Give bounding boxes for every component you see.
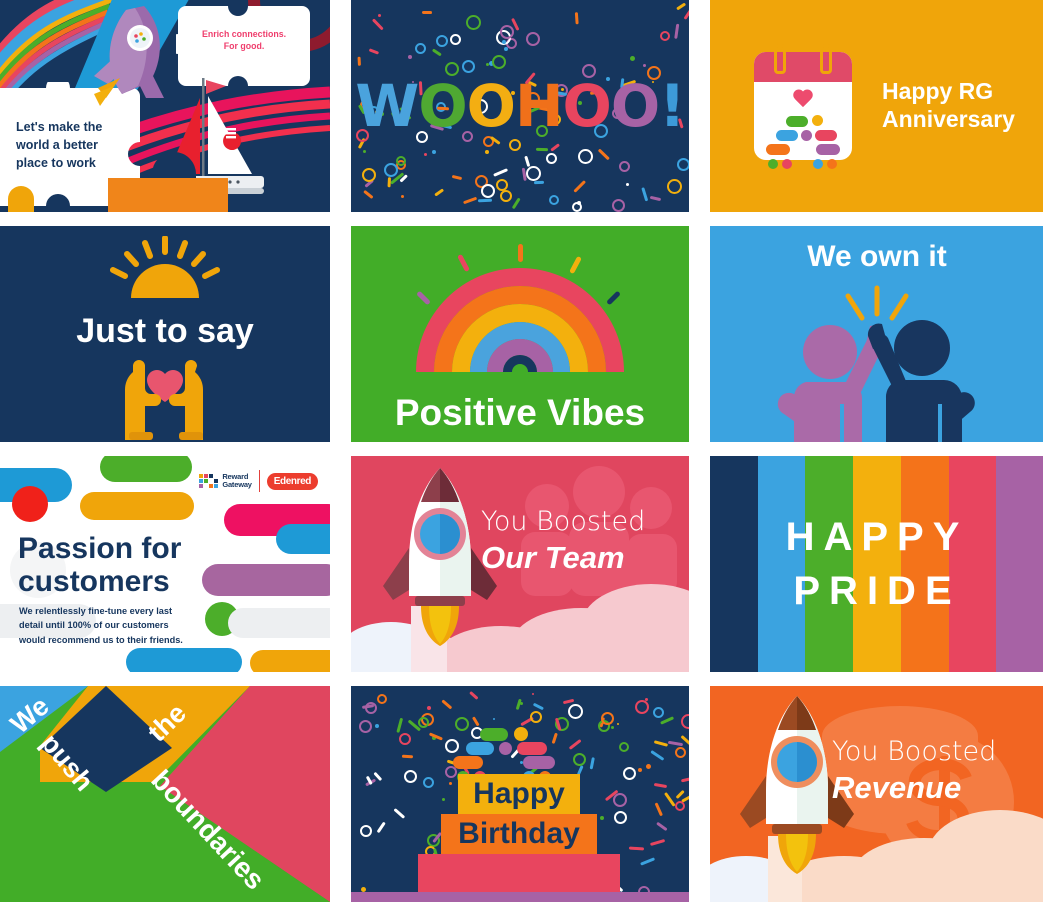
headline-line-2: For good. [196, 40, 292, 52]
shape-grey-1 [228, 608, 330, 638]
pride-line-1: HAPPY [710, 510, 1043, 564]
cake-pill-purple-2 [523, 756, 555, 769]
birthday-line-2: Birthday [441, 817, 597, 851]
card-happy-rg-anniversary[interactable]: Happy RG Anniversary [710, 0, 1043, 212]
accent-block-orange [108, 178, 228, 212]
woohoo-letter-5: O [563, 72, 611, 140]
pill-blue [776, 130, 798, 141]
hands-heart-icon [103, 354, 227, 440]
dot-green [768, 159, 778, 169]
logo-divider [259, 470, 260, 492]
boost-line-2: Our Team [481, 540, 625, 576]
card-body-passion: We relentlessly fine-tune every last det… [19, 604, 194, 647]
shape-purple-1 [202, 564, 330, 596]
accent-shape-yellow [8, 186, 34, 212]
pill-yellow [812, 115, 823, 126]
pride-line-2: PRIDE [710, 564, 1043, 618]
cake-tier-birthday: Birthday [441, 814, 597, 854]
woohoo-text: WOOHOO! [351, 72, 689, 140]
pill-pink [815, 130, 837, 141]
cake-pill-green [480, 728, 508, 741]
woohoo-letter-6: O [611, 72, 659, 140]
card-happy-pride[interactable]: HAPPY PRIDE [710, 456, 1043, 672]
cake-pill-purple [499, 742, 512, 755]
card-you-boosted-our-team[interactable]: You Boosted Our Team [351, 456, 689, 672]
woohoo-letter-1: W [355, 72, 418, 140]
card-title-happy-pride: HAPPY PRIDE [710, 510, 1043, 618]
card-happy-birthday[interactable]: Happy Birthday [351, 686, 689, 902]
shape-blue-3 [126, 648, 242, 672]
anniversary-line-2: Anniversary [882, 106, 1015, 134]
birthday-line-1: Happy [458, 777, 580, 811]
pill-purple-2 [816, 144, 840, 155]
headline-line-1: Enrich connections. [196, 28, 292, 40]
card-we-own-it[interactable]: We own it [710, 226, 1043, 442]
cake-pill-yellow [514, 727, 528, 741]
card-title-just-to-say: Just to say [0, 312, 330, 351]
card-passion-for-customers[interactable]: Reward Gateway Edenred Passion for custo… [0, 456, 330, 672]
pill-orange [766, 144, 790, 155]
reward-gateway-wordmark: Reward Gateway [222, 473, 251, 489]
card-tagline-enrich: Let's make the world a better place to w… [16, 118, 126, 172]
card-just-to-say[interactable]: Just to say [0, 226, 330, 442]
logo-line-2: Gateway [222, 481, 251, 489]
brand-logo-lockup: Reward Gateway Edenred [199, 470, 318, 492]
dot-blue [813, 159, 823, 169]
shape-blue-2 [276, 524, 330, 554]
shape-yellow-1 [80, 492, 194, 520]
card-enrich-connections[interactable]: Enrich connections. For good. Let's make… [0, 0, 330, 212]
boost-line-2: Revenue [832, 770, 961, 806]
shape-yellow-2 [250, 650, 330, 672]
tagline-line-3: place to work [16, 154, 126, 172]
rainbow-icon [416, 262, 624, 372]
reward-gateway-mark-icon [199, 474, 218, 488]
pill-purple [801, 130, 812, 141]
woohoo-letter-7: ! [659, 72, 684, 140]
cake-pill-blue [466, 742, 494, 755]
calendar-heart-icon [754, 52, 852, 160]
dot-orange [827, 159, 837, 169]
cake-pill-orange [453, 756, 483, 769]
shape-green-1 [100, 456, 192, 482]
high-five-icon [710, 282, 1043, 442]
card-positive-vibes[interactable]: Positive Vibes [351, 226, 689, 442]
woohoo-letter-4: H [515, 72, 563, 140]
card-woohoo[interactable]: WOOHOO! [351, 0, 689, 212]
dot-pink [782, 159, 792, 169]
passion-line-1: Passion for [18, 532, 181, 565]
ecard-gallery-grid: Enrich connections. For good. Let's make… [0, 0, 1043, 892]
cake-pill-pink [517, 742, 547, 755]
woohoo-letter-2: O [418, 72, 466, 140]
card-you-boosted-revenue[interactable]: You Boosted Revenue [710, 686, 1043, 902]
sunrise-icon [103, 236, 227, 300]
passion-line-2: customers [18, 565, 181, 598]
tagline-line-2: world a better [16, 136, 126, 154]
anniversary-line-1: Happy RG [882, 78, 1015, 106]
cake-tier-happy: Happy [458, 774, 580, 814]
boost-line-1: You Boosted [481, 506, 645, 537]
card-title-we-own-it: We own it [710, 240, 1043, 274]
card-title-anniversary: Happy RG Anniversary [882, 78, 1015, 133]
card-title-passion: Passion for customers [18, 532, 181, 598]
cake-tier-base [418, 854, 620, 892]
spark-orange [518, 244, 523, 262]
shape-red-circle [12, 486, 48, 522]
edenred-wordmark: Edenred [267, 473, 318, 490]
pill-green [786, 116, 808, 127]
card-we-push-the-boundaries[interactable]: We push the boundaries [0, 686, 330, 902]
card-title-positive-vibes: Positive Vibes [351, 392, 689, 434]
boost-line-1: You Boosted [832, 736, 996, 767]
card-headline-enrich: Enrich connections. For good. [196, 28, 292, 53]
cake-plate [351, 892, 689, 902]
woohoo-letter-3: O [467, 72, 515, 140]
